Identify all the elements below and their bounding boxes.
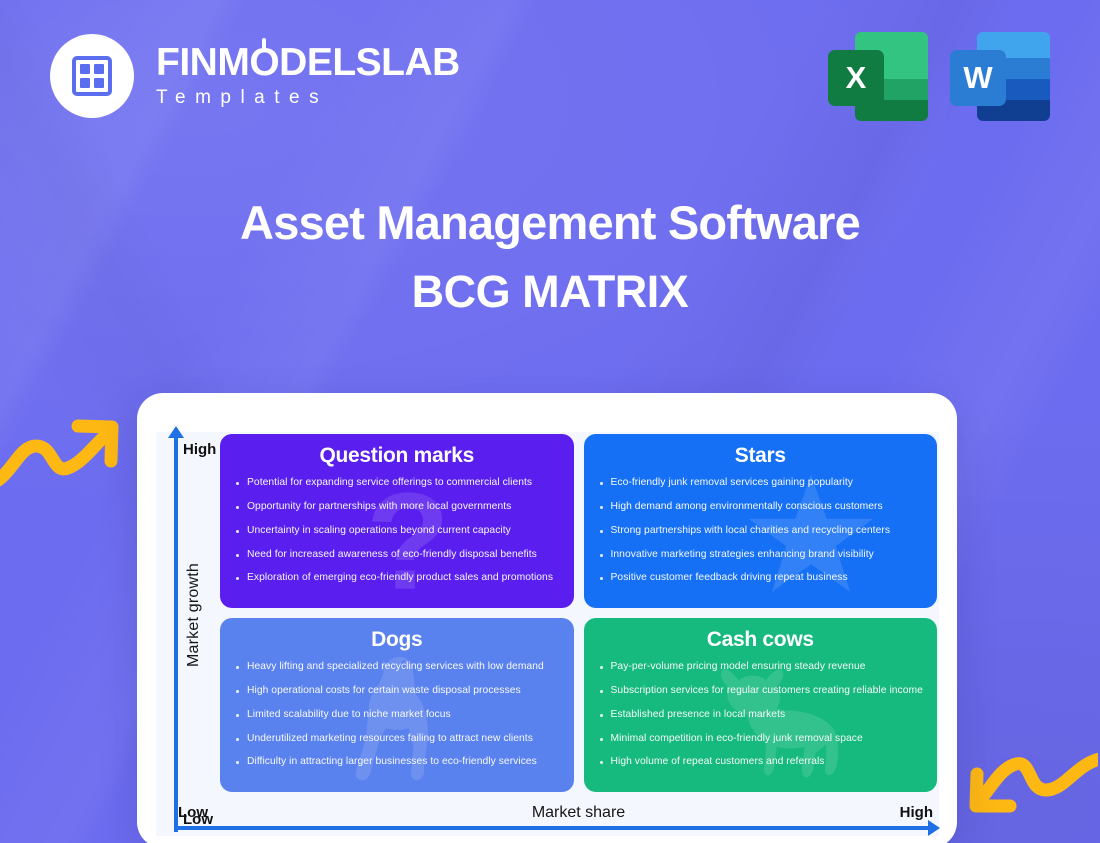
list-item: High operational costs for certain waste… — [234, 685, 560, 698]
list-item: Opportunity for partnerships with more l… — [234, 501, 560, 514]
squiggle-arrow-down-left-icon — [966, 736, 1098, 832]
y-axis-high-label: High — [183, 441, 216, 458]
quadrant-cash-cows[interactable]: Cash cows Pay-per-volume pricing model e… — [584, 618, 938, 792]
list-item: Subscription services for regular custom… — [598, 685, 924, 698]
y-axis-title: Market growth — [185, 563, 203, 667]
excel-file-icon[interactable]: X — [828, 26, 928, 122]
quadrant-title: Stars — [598, 444, 924, 468]
list-item: Pay-per-volume pricing model ensuring st… — [598, 661, 924, 674]
list-item: Limited scalability due to niche market … — [234, 709, 560, 722]
y-axis-arrow-icon — [174, 436, 178, 832]
quadrant-title: Cash cows — [598, 628, 924, 652]
x-axis: Low Market share High — [218, 798, 939, 836]
list-item: Exploration of emerging eco-friendly pro… — [234, 572, 560, 585]
grid-squares-icon — [72, 56, 112, 96]
list-item: Underutilized marketing resources failin… — [234, 733, 560, 746]
quadrant-bullet-list: Eco-friendly junk removal services gaini… — [598, 477, 924, 585]
list-item: Difficulty in attracting larger business… — [234, 756, 560, 769]
poster-canvas: FINMODELSLAB Templates X W Asset Managem… — [0, 0, 1100, 843]
list-item: Positive customer feedback driving repea… — [598, 572, 924, 585]
brand-logo[interactable]: FINMODELSLAB Templates — [50, 34, 460, 118]
logo-badge — [50, 34, 134, 118]
list-item: Heavy lifting and specialized recycling … — [234, 661, 560, 674]
list-item: High demand among environmentally consci… — [598, 501, 924, 514]
title-block: Asset Management Software BCG MATRIX — [0, 195, 1100, 318]
list-item: Established presence in local markets — [598, 709, 924, 722]
brand-text: FINMODELSLAB Templates — [156, 43, 460, 109]
quadrant-stars[interactable]: Stars Eco-friendly junk removal services… — [584, 434, 938, 608]
list-item: High volume of repeat customers and refe… — [598, 756, 924, 769]
page-title: Asset Management Software — [0, 195, 1100, 250]
x-axis-arrow-icon — [174, 826, 929, 830]
excel-letter: X — [828, 50, 884, 106]
list-item: Strong partnerships with local charities… — [598, 525, 924, 538]
brand-name: FINMODELSLAB — [156, 43, 460, 84]
word-file-icon[interactable]: W — [950, 26, 1050, 122]
word-letter: W — [950, 50, 1006, 106]
x-axis-title: Market share — [218, 804, 939, 822]
quadrant-dogs[interactable]: Dogs Heavy lifting and specialized recyc… — [220, 618, 574, 792]
quadrant-bullet-list: Heavy lifting and specialized recycling … — [234, 661, 560, 769]
list-item: Innovative marketing strategies enhancin… — [598, 549, 924, 562]
squiggle-arrow-up-right-icon — [0, 412, 124, 498]
list-item: Eco-friendly junk removal services gaini… — [598, 477, 924, 490]
brand-name-part1: FINM — [156, 41, 249, 84]
quadrant-bullet-list: Pay-per-volume pricing model ensuring st… — [598, 661, 924, 769]
brand-name-o: O — [249, 43, 279, 84]
x-axis-high-label: High — [900, 804, 933, 821]
quadrant-grid: ? Question marks Potential for expanding… — [218, 432, 939, 798]
matrix-card: High Market growth Low ? Question marks … — [137, 393, 957, 843]
list-item: Uncertainty in scaling operations beyond… — [234, 525, 560, 538]
quadrant-title: Dogs — [234, 628, 560, 652]
quadrant-title: Question marks — [234, 444, 560, 468]
brand-name-part2: DELSLAB — [279, 41, 460, 84]
bcg-matrix: High Market growth Low ? Question marks … — [156, 432, 939, 836]
list-item: Minimal competition in eco-friendly junk… — [598, 733, 924, 746]
y-axis: High Market growth Low — [156, 432, 218, 798]
quadrant-bullet-list: Potential for expanding service offering… — [234, 477, 560, 585]
file-format-icons: X W — [828, 26, 1050, 122]
quadrant-question-marks[interactable]: ? Question marks Potential for expanding… — [220, 434, 574, 608]
brand-tagline: Templates — [156, 87, 460, 109]
list-item: Need for increased awareness of eco-frie… — [234, 549, 560, 562]
x-axis-low-label: Low — [178, 804, 208, 821]
page-subtitle: BCG MATRIX — [0, 266, 1100, 318]
list-item: Potential for expanding service offering… — [234, 477, 560, 490]
